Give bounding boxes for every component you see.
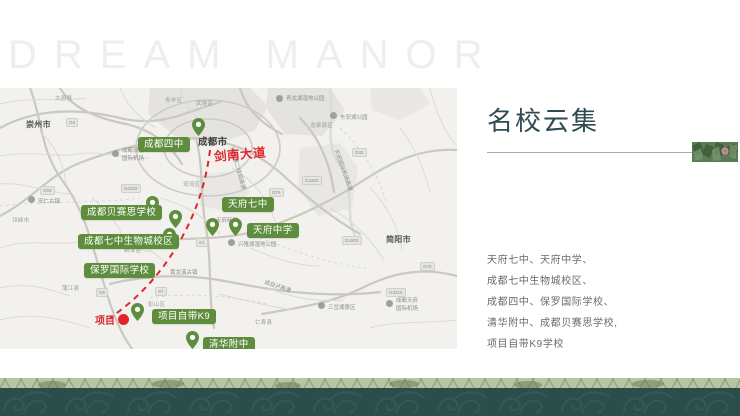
bottom-ornament-band [0,388,740,416]
map-panel[interactable]: 崇州市 成都市 武侯区 龙泉驿区 青羊区 双流区 新津区 简阳市 彭山区 仁寿县… [0,88,457,349]
page-title: 名校云集 [487,101,599,138]
school-list-item: 清华附中、成都贝赛思学校, [487,313,717,334]
poi-label-tianfu-airport: 成都天府国际机场 [396,296,418,312]
school-chip-tianfu-zhongxue[interactable]: 天府中学 [247,223,299,238]
map-label-qionglai: 邛崃市 [12,216,29,224]
highway-badge: G4202 [121,184,141,193]
title-divider [487,152,692,153]
school-chip-paul-international[interactable]: 保罗国际学校 [84,263,155,278]
map-pin-icon[interactable] [229,218,242,236]
project-location-marker[interactable] [118,314,129,325]
highway-badge: S1 [196,238,208,247]
map-label-qingyang: 青羊区 [165,96,182,104]
map-label-dayi: 大邑县 [55,94,72,102]
map-label-pengshan: 彭山区 [148,300,165,308]
school-chip-chengdu-si-zhong[interactable]: 成都四中 [138,137,190,152]
poi-marker-tianfu-airport [386,300,393,307]
foliage-strip [0,378,740,388]
poi-marker-donganhu [330,112,337,119]
map-pin-icon[interactable] [131,303,144,321]
highway-badge: G42 [352,148,367,157]
highway-badge: G76 [420,262,435,271]
poi-marker-sanchahu [318,302,325,309]
map-label-shuangliu: 双流区 [183,180,200,188]
school-list-item: 项目自带K9学校 [487,334,717,355]
poi-marker-shuangliu-airport [112,150,119,157]
school-chip-tsinghua-fuzhong[interactable]: 清华附中 [203,337,255,349]
highway-badge: G93 [40,186,55,195]
school-chip-chengdu-basis[interactable]: 成都贝赛思学校 [81,205,162,220]
map-label-longquanyi: 龙泉驿区 [310,121,333,129]
school-chip-chengdu-qizhong-biocity[interactable]: 成都七中生物城校区 [78,234,179,249]
highway-badge: G5 [66,118,78,127]
poi-label-qinglonghu: 青龙湖湿地公园 [286,94,325,102]
poi-label-sanchahu: 三岔湖景区 [328,303,356,311]
watermark-title: DREAM MANOR [8,28,548,82]
school-chip-tianfu-qizhong[interactable]: 天府七中 [222,197,274,212]
map-pin-icon[interactable] [206,218,219,236]
poi-label-huanglongxi: 黄龙溪古镇 [170,268,198,276]
poi-label-xinglonghu: 兴隆湖湿地公园 [238,240,277,248]
map-label-chongzhou: 崇州市 [26,119,51,130]
poi-marker-qinglonghu [276,95,283,102]
highway-badge: G4202 [302,176,322,185]
highway-badge: G76 [269,188,284,197]
map-pin-icon[interactable] [186,331,199,349]
map-pin-icon[interactable] [192,118,205,136]
school-list-item: 成都四中、保罗国际学校、 [487,292,717,313]
school-chip-project-k9[interactable]: 项目自带K9 [152,309,216,324]
highway-badge: G4215 [386,288,406,297]
highway-badge: G5 [96,288,108,297]
map-label-renshou: 仁寿县 [255,318,272,326]
school-list: 天府七中、天府中学、 成都七中生物城校区、 成都四中、保罗国际学校、 清华附中、… [487,250,717,355]
poi-marker-anren [28,196,35,203]
poi-marker-xinglonghu [228,239,235,246]
poi-label-donganhu: 东安湖公园 [340,113,368,121]
map-label-jianyang: 简阳市 [386,234,411,245]
poi-label-anren: 安仁古镇 [38,197,60,205]
school-list-item: 天府七中、天府中学、 [487,250,717,271]
map-label-wuhou: 武侯区 [196,99,213,107]
highway-badge: S7 [155,287,167,296]
highway-badge: G4202 [342,236,362,245]
slide-root: DREAM MANOR [0,0,740,416]
foliage-accent-icon [692,142,738,162]
map-pin-icon[interactable] [169,210,182,228]
school-list-item: 成都七中生物城校区、 [487,271,717,292]
map-label-pujiang: 蒲江县 [62,284,79,292]
project-location-label: 项目 [95,312,115,327]
